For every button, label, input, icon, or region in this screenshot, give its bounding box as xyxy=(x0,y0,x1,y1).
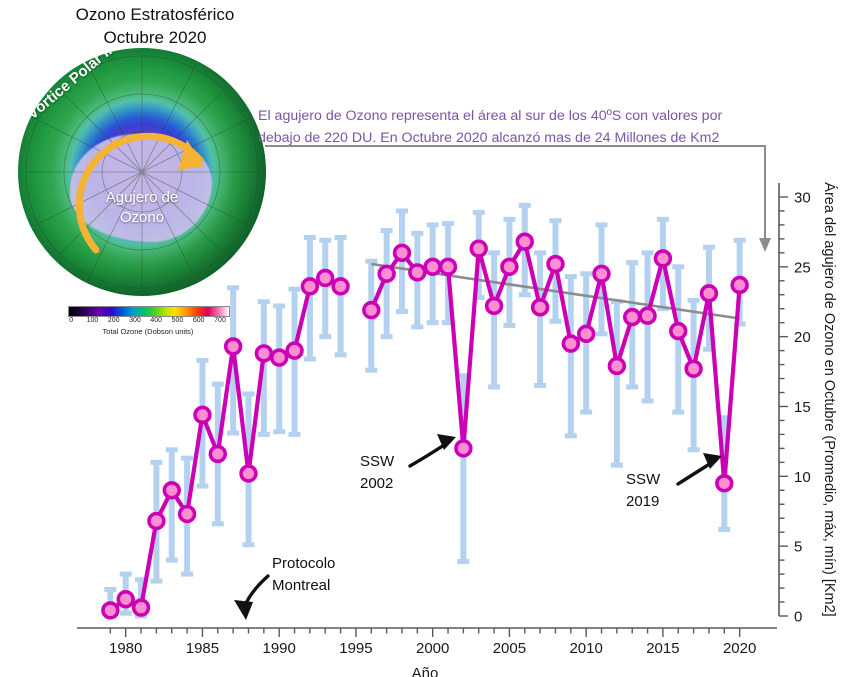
data-point-marker[interactable] xyxy=(502,259,517,274)
data-point-marker[interactable] xyxy=(226,339,241,354)
data-point-marker[interactable] xyxy=(318,271,333,286)
y-axis-tick-label: 5 xyxy=(794,539,802,556)
data-point-marker[interactable] xyxy=(149,514,164,529)
annotation-line2: 2019 xyxy=(626,493,659,510)
ozone-hole-area-chart: 198019851990199520002005201020152020Año … xyxy=(0,0,845,677)
annotation-line2: Montreal xyxy=(272,577,330,594)
data-point-marker[interactable] xyxy=(333,279,348,294)
annotation-line2: 2002 xyxy=(360,475,393,492)
data-point-marker[interactable] xyxy=(487,299,502,314)
error-bar xyxy=(319,240,331,336)
annotation-line1: Protocolo xyxy=(272,555,335,572)
data-point-marker[interactable] xyxy=(732,278,747,293)
annotation-arrowhead-icon xyxy=(234,600,253,620)
y-axis-tick-label: 20 xyxy=(794,329,811,346)
error-bar xyxy=(642,253,654,401)
data-point-marker[interactable] xyxy=(625,310,640,325)
data-point-marker[interactable] xyxy=(425,259,440,274)
data-point-marker[interactable] xyxy=(103,603,118,618)
data-point-marker[interactable] xyxy=(702,286,717,301)
poster-canvas: Ozono Estratosférico Octubre 2020 xyxy=(0,0,845,677)
error-bar xyxy=(611,302,623,465)
data-point-marker[interactable] xyxy=(118,592,133,607)
data-point-marker[interactable] xyxy=(533,300,548,315)
annotation-line1: SSW xyxy=(626,471,661,488)
data-point-marker[interactable] xyxy=(441,259,456,274)
data-point-marker[interactable] xyxy=(717,476,732,491)
y-axis-tick-label: 30 xyxy=(794,189,811,206)
data-point-marker[interactable] xyxy=(640,308,655,323)
error-bar xyxy=(565,277,577,436)
x-axis-tick-label: 2015 xyxy=(646,640,679,657)
error-bar xyxy=(166,450,178,560)
y-axis-tick-label: 0 xyxy=(794,609,802,626)
data-point-marker[interactable] xyxy=(364,303,379,318)
data-point-marker[interactable] xyxy=(548,257,563,272)
x-axis-label: Año xyxy=(412,665,439,677)
data-point-marker[interactable] xyxy=(686,361,701,376)
x-axis-tick-label: 2000 xyxy=(416,640,449,657)
annotation-protocolo-montreal: ProtocoloMontreal xyxy=(234,555,335,620)
y-axis-label: Área del agujero de Ozono en Octubre (Pr… xyxy=(821,182,838,616)
data-point-marker[interactable] xyxy=(395,245,410,260)
data-point-marker[interactable] xyxy=(195,407,210,422)
y-axis: 051015202530Área del agujero de Ozono en… xyxy=(779,182,838,625)
chart-annotations: SSW2002SSW2019ProtocoloMontreal xyxy=(234,434,722,620)
x-axis-tick-label: 1990 xyxy=(262,640,295,657)
data-point-marker[interactable] xyxy=(563,336,578,351)
data-point-marker[interactable] xyxy=(287,343,302,358)
data-point-marker[interactable] xyxy=(134,600,149,615)
data-point-marker[interactable] xyxy=(379,266,394,281)
x-axis-tick-label: 2020 xyxy=(723,640,756,657)
x-axis-tick-label: 2010 xyxy=(569,640,602,657)
error-bar xyxy=(534,253,546,386)
error-bar xyxy=(335,237,347,354)
data-point-marker[interactable] xyxy=(671,324,686,339)
y-axis-tick-label: 10 xyxy=(794,469,811,486)
x-axis-tick-label: 1980 xyxy=(109,640,142,657)
error-bar xyxy=(488,253,500,387)
error-bar xyxy=(273,306,285,432)
data-point-marker[interactable] xyxy=(456,441,471,456)
data-point-marker[interactable] xyxy=(302,279,317,294)
x-axis-tick-label: 1985 xyxy=(186,640,219,657)
data-point-marker[interactable] xyxy=(471,241,486,256)
data-point-marker[interactable] xyxy=(241,466,256,481)
data-point-marker[interactable] xyxy=(579,326,594,341)
data-point-marker[interactable] xyxy=(256,346,271,361)
x-axis-tick-label: 1995 xyxy=(339,640,372,657)
annotation-line1: SSW xyxy=(360,453,395,470)
data-point-marker[interactable] xyxy=(656,251,671,266)
x-axis-tick-label: 2005 xyxy=(493,640,526,657)
data-point-marker[interactable] xyxy=(410,265,425,280)
data-point-marker[interactable] xyxy=(180,507,195,522)
data-point-marker[interactable] xyxy=(272,350,287,365)
data-point-marker[interactable] xyxy=(164,483,179,498)
y-axis-tick-label: 25 xyxy=(794,259,811,276)
annotation-ssw-2002: SSW2002 xyxy=(360,434,456,492)
annotation-ssw-2019: SSW2019 xyxy=(626,453,722,510)
data-point-marker[interactable] xyxy=(210,447,225,462)
data-point-marker[interactable] xyxy=(609,359,624,374)
y-axis-tick-label: 15 xyxy=(794,399,811,416)
data-point-marker[interactable] xyxy=(594,266,609,281)
x-axis: 198019851990199520002005201020152020Año xyxy=(77,628,777,677)
error-bar xyxy=(289,289,301,434)
data-point-marker[interactable] xyxy=(517,234,532,249)
